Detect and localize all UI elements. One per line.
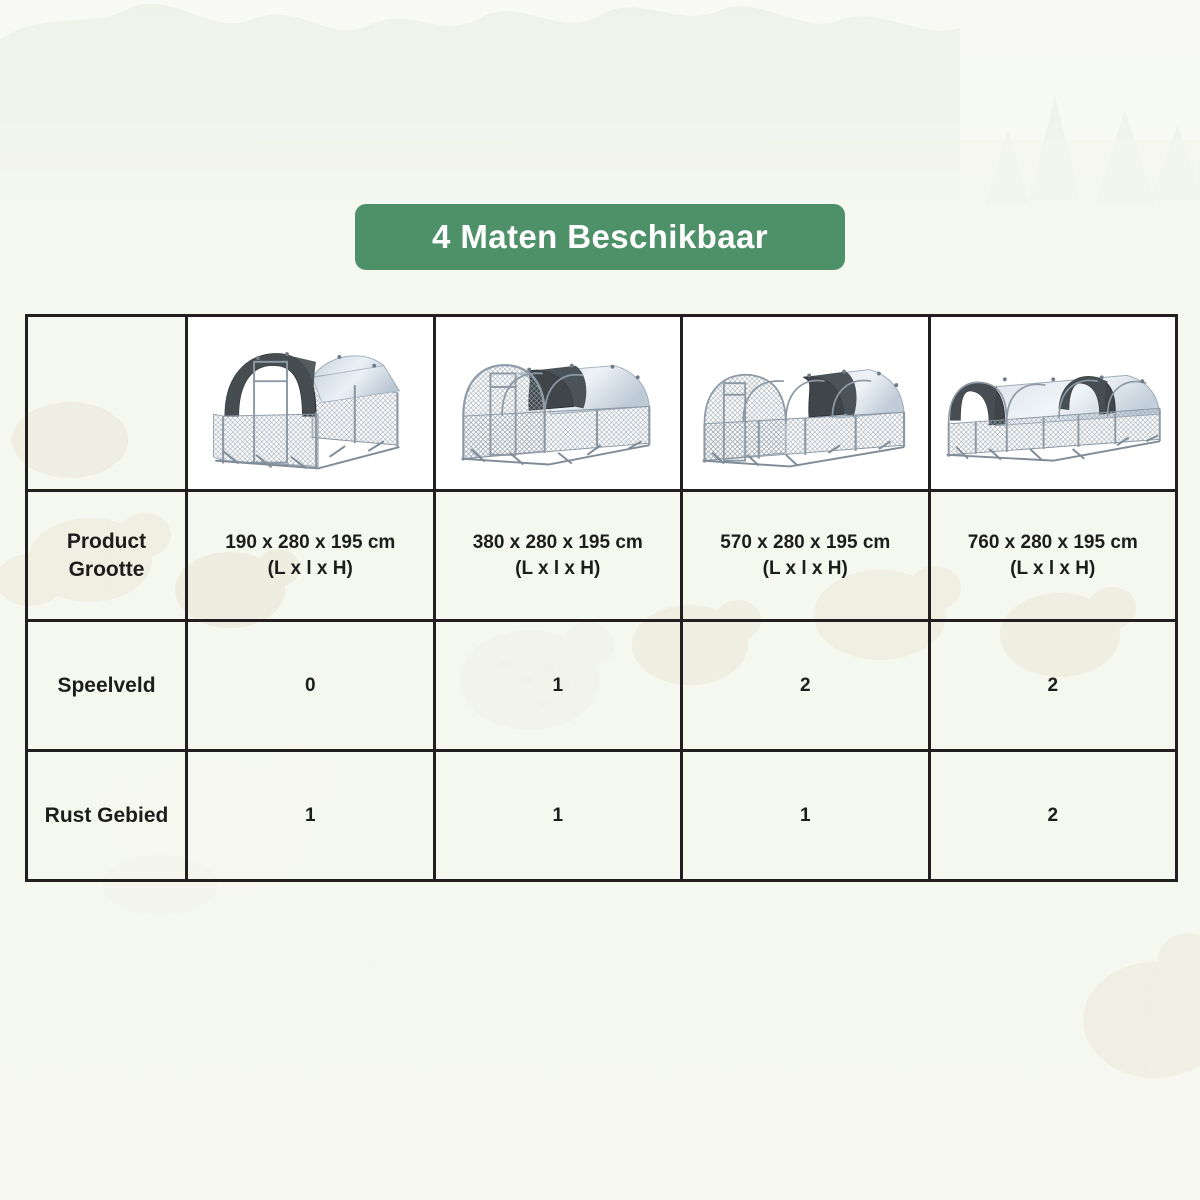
product-size-value-1: 190 x 280 x 195 cm [225,532,395,553]
size-comparison-table: Product Grootte 190 x 280 x 195 cm (L x … [25,314,1178,882]
play-area-cell-2: 1 [434,621,682,751]
table-row-images [27,316,1177,491]
product-size-value-2: 380 x 280 x 195 cm [473,532,643,553]
product-size-cell-2: 380 x 280 x 195 cm (L x l x H) [434,491,682,621]
table-row-rest-area: Rust Gebied 1 1 1 2 [27,751,1177,881]
product-size-value-4: 760 x 280 x 195 cm [968,532,1138,553]
table-corner-cell [27,316,187,491]
play-area-cell-3: 2 [682,621,930,751]
table-row-play-area: Speelveld 0 1 2 2 [27,621,1177,751]
product-image-cell-1 [187,316,435,491]
product-size-unit-1: (L x l x H) [188,556,433,581]
product-size-unit-2: (L x l x H) [436,556,681,581]
row-label-product-size-line2: Grootte [28,556,185,584]
product-image-cell-4 [929,316,1177,491]
rest-area-cell-2: 1 [434,751,682,881]
rest-area-cell-1: 1 [187,751,435,881]
row-label-product-size: Product Grootte [27,491,187,621]
rest-area-cell-4: 2 [929,751,1177,881]
table-row-product-size: Product Grootte 190 x 280 x 195 cm (L x … [27,491,1177,621]
product-size-cell-4: 760 x 280 x 195 cm (L x l x H) [929,491,1177,621]
play-area-cell-4: 2 [929,621,1177,751]
chicken-coop-4-section-icon [937,321,1170,485]
play-area-cell-1: 0 [187,621,435,751]
product-size-value-3: 570 x 280 x 195 cm [720,532,890,553]
content-layer: 4 Maten Beschikbaar [0,0,1200,1200]
product-image-cell-3 [682,316,930,491]
chicken-coop-2-section-icon [442,321,675,485]
chicken-coop-3-section-icon [689,321,922,485]
chicken-coop-1-section-icon [194,321,427,485]
product-size-cell-3: 570 x 280 x 195 cm (L x l x H) [682,491,930,621]
page-title: 4 Maten Beschikbaar [432,218,768,256]
product-size-unit-3: (L x l x H) [683,556,928,581]
row-label-play-area: Speelveld [27,621,187,751]
rest-area-cell-3: 1 [682,751,930,881]
row-label-product-size-line1: Product [67,530,146,553]
title-banner: 4 Maten Beschikbaar [355,204,845,270]
product-size-unit-4: (L x l x H) [931,556,1176,581]
product-size-cell-1: 190 x 280 x 195 cm (L x l x H) [187,491,435,621]
row-label-rest-area: Rust Gebied [27,751,187,881]
product-image-cell-2 [434,316,682,491]
